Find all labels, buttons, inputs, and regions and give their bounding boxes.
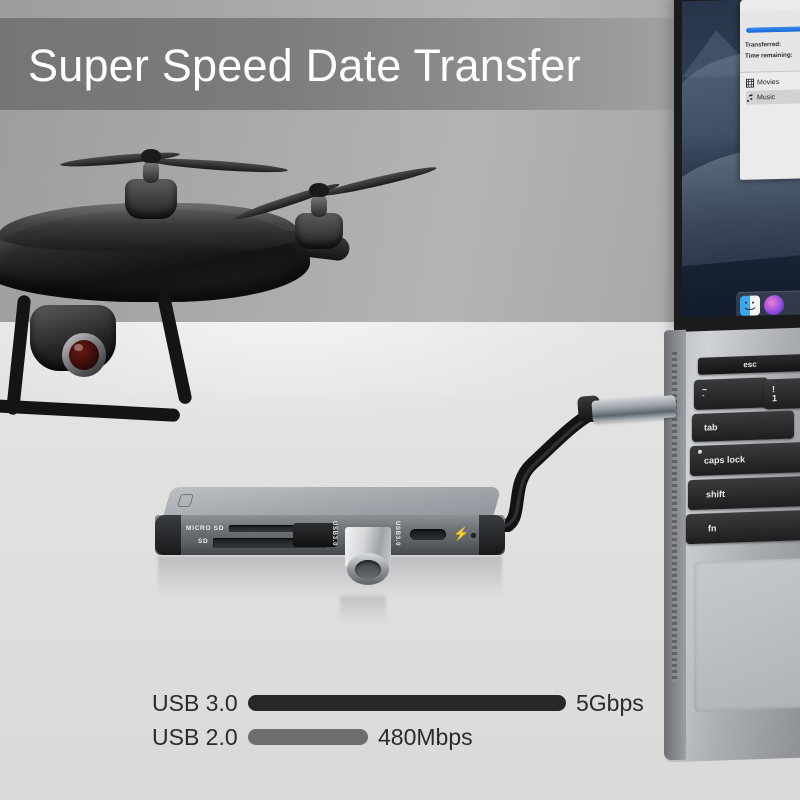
usb-a-label: USB3.0 <box>331 521 337 546</box>
key-tilde[interactable]: ~ ` <box>694 377 768 410</box>
speed-comparison-chart: USB 3.0 5Gbps USB 2.0 480Mbps <box>152 686 672 754</box>
drone-leg-rear <box>156 290 193 405</box>
speed-row-usb3: USB 3.0 5Gbps <box>152 686 672 720</box>
transfer-dialog: Wait Transferred: Time remaining: <box>740 10 800 73</box>
progress-bar-fill <box>746 26 800 32</box>
key-label: ! <box>772 385 775 395</box>
drone-leg-front <box>6 295 31 416</box>
speed-label-usb2: USB 2.0 <box>152 724 248 751</box>
product-marketing-image: Super Speed Date Transfer <box>0 0 800 800</box>
key-label: shift <box>706 489 725 500</box>
drone-lens-highlight <box>74 344 83 351</box>
key-label: tab <box>704 422 718 432</box>
flash-drive-reflection <box>340 596 386 622</box>
drone-propeller-left-b <box>148 156 288 175</box>
key-label: fn <box>708 523 717 533</box>
drone-camera-lens <box>69 340 99 370</box>
drone-motor-left <box>143 161 159 183</box>
film-strip-icon <box>746 78 754 87</box>
usb-flash-drive <box>345 527 391 585</box>
speed-label-usb3: USB 3.0 <box>152 690 248 717</box>
drone-prop-cap-right <box>309 183 329 197</box>
drone-motor-housing-left <box>125 179 177 219</box>
transferred-label: Transferred: <box>745 41 781 49</box>
sidebar-item-music[interactable]: Music <box>746 89 800 105</box>
macos-dock[interactable] <box>736 290 800 317</box>
dock-running-indicator <box>749 316 752 318</box>
key-caps-lock[interactable]: caps lock <box>690 442 800 476</box>
drone-motor-right <box>311 195 327 217</box>
drone-landing-skid <box>0 397 180 422</box>
hub-end-cap-right <box>479 515 505 555</box>
key-label: ~ <box>702 385 707 395</box>
speed-row-usb2: USB 2.0 480Mbps <box>152 720 672 754</box>
sd-label: SD <box>198 538 208 545</box>
speed-bar-usb2 <box>248 729 368 745</box>
laptop-display: Wait Transferred: Time remaining: Movies <box>674 0 800 334</box>
flash-drive-keyring-hole <box>355 560 381 579</box>
laptop-trackpad[interactable] <box>694 558 800 712</box>
key-esc[interactable]: esc <box>698 354 800 375</box>
key-sublabel: 1 <box>772 394 777 404</box>
speed-bar-usb3 <box>248 695 566 711</box>
desktop-wallpaper: Wait Transferred: Time remaining: Movies <box>682 0 800 317</box>
usb-c-cable <box>498 402 648 532</box>
finder-face-icon <box>740 295 760 315</box>
dialog-title: Wait <box>740 12 800 21</box>
speed-value-usb3: 5Gbps <box>576 690 644 717</box>
drone-motor-housing-right <box>295 213 343 249</box>
finder-window[interactable]: Wait Transferred: Time remaining: Movies <box>740 0 800 180</box>
status-led-icon <box>471 533 476 538</box>
headline-title: Super Speed Date Transfer <box>28 40 668 92</box>
sidebar-item-label: Movies <box>757 78 779 86</box>
drone-illustration <box>0 135 400 435</box>
siri-icon[interactable] <box>764 295 784 315</box>
hub-reflection <box>158 556 502 598</box>
key-sublabel: ` <box>702 395 705 405</box>
lightning-bolt-icon: ⚡ <box>453 527 469 540</box>
usb-c-port[interactable] <box>410 529 446 540</box>
usb-c-label: USB3.0 <box>394 521 400 546</box>
usb-c-hub-device: MICRO SD SD USB3.0 USB3.0 ⚡ <box>155 487 505 559</box>
time-remaining-label: Time remaining: <box>745 52 793 60</box>
micro-sd-label: MICRO SD <box>186 525 224 532</box>
speed-value-usb2: 480Mbps <box>378 724 473 751</box>
key-fn[interactable]: fn <box>686 510 800 544</box>
key-tab[interactable]: tab <box>692 410 794 442</box>
key-shift[interactable]: shift <box>688 476 800 510</box>
key-label: caps lock <box>704 454 745 465</box>
key-label: esc <box>743 360 756 369</box>
key-one[interactable]: ! 1 <box>764 377 800 409</box>
drone-prop-cap-left <box>141 149 161 163</box>
caps-lock-led-icon <box>698 450 702 454</box>
sidebar-item-movies[interactable]: Movies <box>746 74 800 90</box>
sidebar-item-label: Music <box>757 94 775 101</box>
hub-end-cap-left <box>155 515 181 555</box>
music-note-icon <box>746 93 754 102</box>
